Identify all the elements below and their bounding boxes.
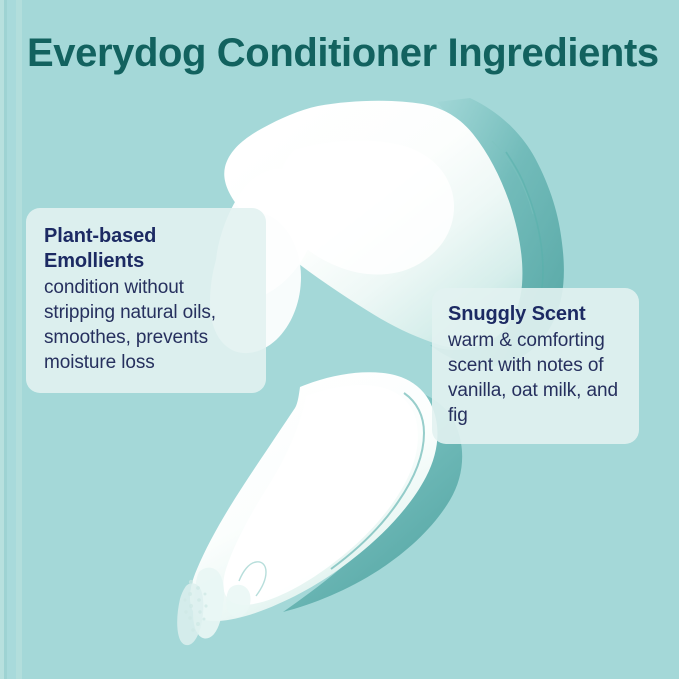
callout-plant-based-emollients: Plant-based Emollients condition without… <box>26 208 266 393</box>
callout-heading-plant-based-emollients: Plant-based Emollients <box>44 224 248 274</box>
callout-body-plant-based-emollients: condition without stripping natural oils… <box>44 275 248 375</box>
callout-body-snuggly-scent: warm & comforting scent with notes of va… <box>448 328 623 428</box>
edge-band-3 <box>7 0 16 679</box>
page-title: Everydog Conditioner Ingredients <box>27 29 667 77</box>
cream-swatch-lower <box>177 372 462 645</box>
product-ingredients-graphic: Everydog Conditioner Ingredients Plant-b… <box>0 0 679 679</box>
edge-band-1 <box>0 0 4 679</box>
tail-texture-dots <box>183 580 207 632</box>
edge-band-4 <box>16 0 22 679</box>
callout-snuggly-scent: Snuggly Scent warm & comforting scent wi… <box>432 288 639 444</box>
callout-heading-snuggly-scent: Snuggly Scent <box>448 302 623 327</box>
edge-band-2 <box>4 0 7 679</box>
